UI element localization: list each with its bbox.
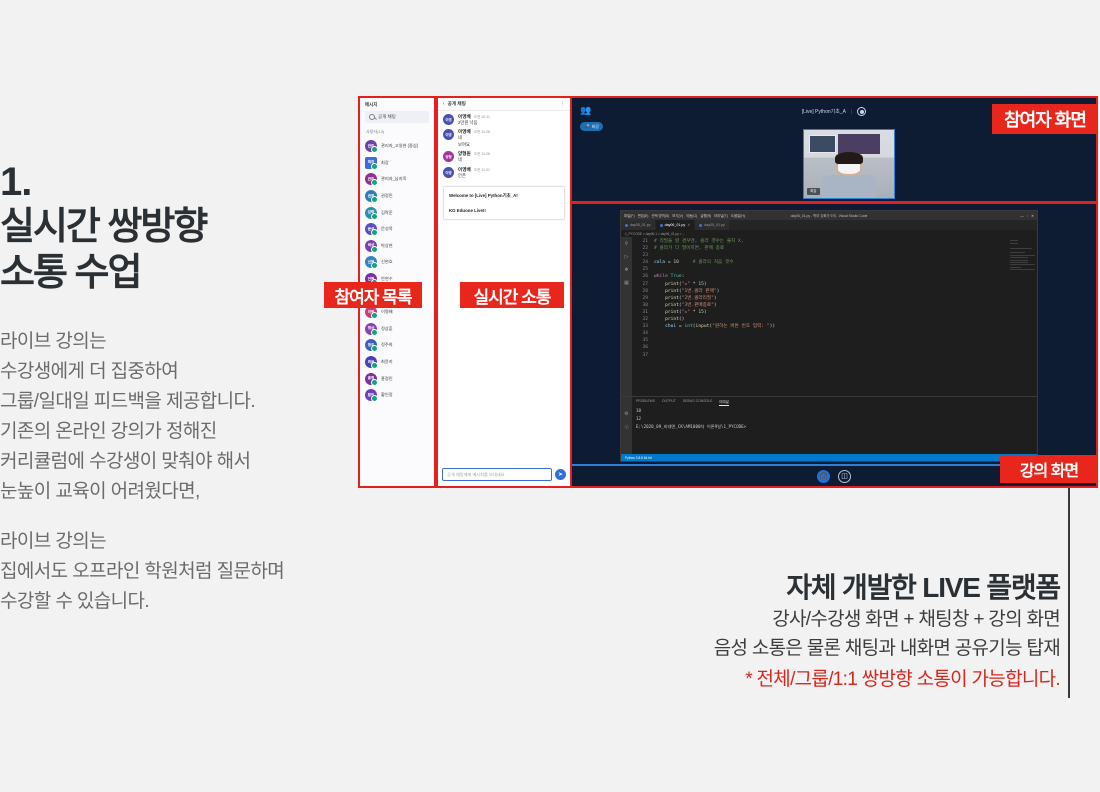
search-icon[interactable]: ⚲ xyxy=(625,241,629,247)
participant-row[interactable]: 최윤최윤지 xyxy=(360,354,434,371)
code-token: print xyxy=(654,310,679,315)
platform-line-1: 강사/수강생 화면 + 채팅창 + 강의 화면 xyxy=(440,606,1060,635)
code-text: print("1번.콜라 판매") xyxy=(654,288,719,295)
run-icon[interactable]: ▷ xyxy=(625,254,629,260)
vscode-titlebar: 파일(F)편집(E)선택 영역(S)보기(V)이동(G)실행(R)터미널(T)도… xyxy=(621,211,1037,220)
minimap-line xyxy=(1010,262,1028,263)
window-buttons[interactable]: — ▫ ✕ xyxy=(1020,214,1034,218)
line-number: 26 xyxy=(632,273,654,280)
session-title: [Live] Python기초_A xyxy=(802,108,846,115)
chat-message-list: 이영이영배오전 10:112만원 낙음이영이영배오전 11:26네보여요양형양형… xyxy=(438,111,570,179)
welcome-line-2: KG Eduone Live!! xyxy=(449,208,559,213)
user-count-label: 사용자(13) xyxy=(360,127,434,138)
code-line: 34 xyxy=(632,330,1037,337)
participant-name: 홍정민 xyxy=(381,376,393,382)
participant-row[interactable]: 신현신현호 xyxy=(360,254,434,271)
close-icon[interactable]: ✕ xyxy=(1031,214,1034,218)
avatar: 이영 xyxy=(443,167,454,178)
participant-row[interactable]: 황인황인정 xyxy=(360,387,434,404)
para2-line-2: 집에서도 오프라인 학원처럼 질문하며 xyxy=(0,557,360,587)
chevron-left-icon[interactable]: ‹ xyxy=(443,101,445,107)
editor-tab[interactable]: day05_01.py xyxy=(621,220,656,230)
chat-header: ‹ 공개 채팅 ⋮ xyxy=(438,98,570,111)
line-number: 31 xyxy=(632,309,654,316)
tag-live-chat: 실시간 소통 xyxy=(460,282,564,308)
participant-name: 문성욱 xyxy=(381,226,393,232)
maximize-icon[interactable]: ▫ xyxy=(1027,214,1028,218)
code-token: "원하는 버튼 번호 입력: " xyxy=(712,324,769,329)
avatar: 김락 xyxy=(365,207,377,219)
code-line: 31 print("=" * 15) xyxy=(632,309,1037,316)
participant-row[interactable]: 관리관리자_고일현 (중심) xyxy=(360,138,434,155)
participant-row[interactable]: 김락김락준 xyxy=(360,204,434,221)
tag-participant-screen: 참여자 화면 xyxy=(992,104,1098,134)
video-monitor-1 xyxy=(809,135,836,153)
code-line: 32 print() xyxy=(632,316,1037,323)
participant-row[interactable]: 홍정홍정민 xyxy=(360,370,434,387)
video-person-mask xyxy=(838,164,860,174)
participant-row[interactable]: 최강최강 xyxy=(360,155,434,172)
avatar: 최윤 xyxy=(365,356,377,368)
chat-message-text: 보여요 xyxy=(458,142,490,148)
chat-message-text: 2만원 낙음 xyxy=(458,120,490,126)
chat-message-header: 양형원오전 11:26 xyxy=(458,151,490,157)
video-monitor-2 xyxy=(838,134,879,154)
chat-input[interactable]: 공개 채팅에게 메시지를 보내세요 xyxy=(442,468,552,481)
para1-line-6: 눈높이 교육이 어려웠다면, xyxy=(0,477,360,507)
avatar: 황인 xyxy=(365,389,377,401)
participant-name: 권정민 xyxy=(381,193,393,199)
code-token: while xyxy=(654,274,671,279)
avatar: 이영 xyxy=(443,114,454,125)
send-icon[interactable]: ➤ xyxy=(555,469,566,480)
tag-lecture-screen: 강의 화면 xyxy=(1000,455,1098,483)
welcome-card: Welcome to [Live] Python기초_A! KG Eduone … xyxy=(443,186,565,220)
line-number: 33 xyxy=(632,323,654,330)
minimap-line xyxy=(1010,240,1018,241)
avatar: 정주 xyxy=(365,339,377,351)
code-line: 24cola = 10 # 콜라의 처음 갯수 xyxy=(632,259,1037,266)
minimap-line xyxy=(1010,252,1025,253)
editor-tab-label: day05_01.py xyxy=(704,223,725,227)
code-token: print xyxy=(654,317,679,322)
status-left: Python 3.8.5 64-bit xyxy=(625,456,652,460)
code-token: # 리필을 할 경우엔, 콜라 갯수는 줄지 X, xyxy=(654,239,744,244)
participant-row[interactable]: 권정권정민 xyxy=(360,188,434,205)
bottom-right-copy: 자체 개발한 LIVE 플랫폼 강사/수강생 화면 + 채팅창 + 강의 화면 … xyxy=(440,566,1060,695)
code-text: print("=" * 15) xyxy=(654,281,707,288)
code-text: # 콜라가 다 떨어지면, 판매 종료 xyxy=(654,245,724,252)
code-token: print xyxy=(654,296,679,301)
code-text: print() xyxy=(654,316,684,323)
code-line: 36 xyxy=(632,344,1037,351)
code-line: 27 print("=" * 15) xyxy=(632,281,1037,288)
lecture-screen-panel: 파일(F)편집(E)선택 영역(S)보기(V)이동(G)실행(R)터미널(T)도… xyxy=(570,201,1098,488)
code-token: int xyxy=(684,324,692,329)
line-number: 37 xyxy=(632,352,654,359)
code-token: "=" xyxy=(682,310,693,315)
code-token: print xyxy=(654,282,679,287)
video-lecture-column: 👥 🎤 최강 [Live] Python기초_A | xyxy=(570,96,1098,488)
code-token: cola xyxy=(654,260,668,265)
line-number: 36 xyxy=(632,344,654,351)
code-token: choi xyxy=(654,324,679,329)
chat-message-body: 양형원오전 11:26네 xyxy=(458,151,490,163)
code-token: ) xyxy=(704,282,707,287)
code-line: 23 xyxy=(632,252,1037,259)
code-token: print xyxy=(654,303,679,308)
terminal-body: PROBLEMSOUTPUTDEBUG CONSOLE터미널 1012 E:\2… xyxy=(632,397,1037,454)
code-token: # 콜라의 처음 갯수 xyxy=(693,260,734,265)
code-line: 37 xyxy=(632,352,1037,359)
participant-row[interactable]: 관리관리자_남지욱 xyxy=(360,171,434,188)
public-chat-label: 공개 채팅 xyxy=(378,114,396,120)
chat-message-body: 이영배오전 11:26네보여요 xyxy=(458,129,490,148)
panel-tab[interactable]: DEBUG CONSOLE xyxy=(683,399,713,406)
line-number: 35 xyxy=(632,337,654,344)
body-copy: 라이브 강의는 수강생에게 더 집중하여 그룹/일대일 피드백을 제공합니다. … xyxy=(0,327,360,617)
headline-line-1: 실시간 쌍방향 xyxy=(0,204,360,250)
code-line: 33 choi = int(input("원하는 버튼 번호 입력: ")) xyxy=(632,323,1037,330)
code-token: () xyxy=(679,317,685,322)
avatar: 정상 xyxy=(365,323,377,335)
line-number: 28 xyxy=(632,288,654,295)
account-icon[interactable]: ☉ xyxy=(624,425,628,431)
participant-name: 이명배 xyxy=(381,309,393,315)
paragraph-gap xyxy=(0,507,360,527)
code-token: True xyxy=(671,274,682,279)
code-line: 25 xyxy=(632,266,1037,273)
code-token xyxy=(679,260,693,265)
code-token: # 콜라가 다 떨어지면, 판매 종료 xyxy=(654,246,724,251)
line-number: 22 xyxy=(632,245,654,252)
platform-line-2: 음성 소통은 물론 채팅과 내화면 공유기능 탑재 xyxy=(440,635,1060,664)
line-number: 30 xyxy=(632,302,654,309)
chat-timestamp: 오전 11:26 xyxy=(474,152,490,157)
terminal-output: 1012 xyxy=(636,408,1033,422)
chat-message: 이영이영배오전 10:112만원 낙음 xyxy=(438,111,570,126)
code-token: "=" xyxy=(682,282,693,287)
close-icon[interactable]: ✕ xyxy=(687,223,690,227)
panel-activity-bar: ⚙ ☉ xyxy=(621,397,632,454)
code-line: 21# 리필을 할 경우엔, 콜라 갯수는 줄지 X, xyxy=(632,238,1037,245)
activity-bar: ⚲ ▷ ❖ ▦ xyxy=(621,237,632,396)
minimap-line xyxy=(1010,264,1035,265)
avatar: 신현 xyxy=(365,256,377,268)
participant-row[interactable]: 정주정주희 xyxy=(360,337,434,354)
minimap-line xyxy=(1010,243,1018,244)
section-number: 1. xyxy=(0,162,360,202)
editor-breadcrumb: 1_PYCODE > day06.1 > day06_01.py > ... xyxy=(621,230,1037,237)
participant-name: 정상훈 xyxy=(381,326,393,332)
para1-line-1: 라이브 강의는 xyxy=(0,327,360,357)
code-text: print("2번.콜라리필") xyxy=(654,295,717,302)
extensions-icon[interactable]: ▦ xyxy=(624,280,629,286)
source-control-icon[interactable]: ❖ xyxy=(624,267,628,273)
avatar: 홍정 xyxy=(365,373,377,385)
participant-row[interactable]: 문성문성욱 xyxy=(360,221,434,238)
terminal-line: 12 xyxy=(636,416,1033,422)
terminal-line: 10 xyxy=(636,408,1033,414)
avatar: 관리 xyxy=(365,140,377,152)
chat-title: 공개 채팅 xyxy=(448,101,466,107)
python-file-icon xyxy=(625,224,628,227)
participant-name: 최강 xyxy=(381,160,389,166)
platform-note: * 전체/그룹/1:1 쌍방향 소통이 가능합니다. xyxy=(440,666,1060,695)
panel-tab[interactable]: 터미널 xyxy=(719,399,728,406)
search-icon xyxy=(369,114,375,120)
participant-name: 황인정 xyxy=(381,392,393,398)
avatar: 권정 xyxy=(365,190,377,202)
public-chat-search[interactable]: 공개 채팅 xyxy=(365,111,429,123)
participant-name: 정주희 xyxy=(381,342,393,348)
participant-name: 김락준 xyxy=(381,210,393,216)
chat-message: 이영이영배오전 11:31안폰 xyxy=(438,164,570,179)
code-token: ) xyxy=(714,296,717,301)
line-number: 23 xyxy=(632,252,654,259)
screen-share-icon[interactable]: ◫ xyxy=(838,470,851,483)
editor-tab[interactable]: day06_01.py✕ xyxy=(656,220,696,230)
participant-name: 관리자_고일현 (중심) xyxy=(381,143,418,149)
avatar: 이영 xyxy=(443,129,454,140)
para1-line-4: 기존의 온라인 강의가 정해진 xyxy=(0,417,360,447)
python-file-icon xyxy=(660,224,663,227)
line-number: 21 xyxy=(632,238,654,245)
title-divider: | xyxy=(851,109,852,115)
editor-tab-bar: day05_01.pyday06_01.py✕day05_01.py xyxy=(621,220,1037,230)
para2-line-3: 수강할 수 있습니다. xyxy=(0,587,360,617)
chat-message-text: 네 xyxy=(458,157,490,163)
vscode-status-bar: Python 3.8.5 64-bit 줄 33, 열 5 xyxy=(621,454,1037,461)
vertical-divider xyxy=(1068,488,1070,698)
line-number: 27 xyxy=(632,281,654,288)
participant-row[interactable]: 박상박상현 xyxy=(360,238,434,255)
code-line: 29 print("2번.콜라리필") xyxy=(632,295,1037,302)
para1-line-2: 수강생에게 더 집중하여 xyxy=(0,357,360,387)
chat-message-header: 이영배오전 11:31 xyxy=(458,167,490,173)
line-number: 25 xyxy=(632,266,654,273)
line-number: 32 xyxy=(632,316,654,323)
chat-message-body: 이영배오전 10:112만원 낙음 xyxy=(458,114,490,126)
para1-line-3: 그룹/일대일 피드백을 제공합니다. xyxy=(0,387,360,417)
code-line: 28 print("1번.콜라 판매") xyxy=(632,288,1037,295)
code-token: "3번.판매종료" xyxy=(682,303,714,308)
mic-icon: 🎤 xyxy=(584,124,590,130)
line-number: 29 xyxy=(632,295,654,302)
code-token: ) xyxy=(704,310,707,315)
minimap-line xyxy=(1010,269,1035,270)
editor-tab-label: day06_01.py xyxy=(665,223,686,227)
avatar: 이명 xyxy=(365,306,377,318)
welcome-line-1: Welcome to [Live] Python기초_A! xyxy=(449,193,559,199)
code-token: )) xyxy=(770,324,776,329)
code-token: print xyxy=(654,289,679,294)
code-token: "1번.콜라 판매" xyxy=(682,289,717,294)
code-line: 26while True: xyxy=(632,273,1037,280)
participant-name: 박상현 xyxy=(381,243,393,249)
avatar: 문성 xyxy=(365,223,377,235)
page-root: 1. 실시간 쌍방향 소통 수업 라이브 강의는 수강생에게 더 집중하여 그룹… xyxy=(0,0,1100,792)
headphone-icon[interactable]: 🎧 xyxy=(817,470,830,483)
vscode-window: 파일(F)편집(E)선택 영역(S)보기(V)이동(G)실행(R)터미널(T)도… xyxy=(620,210,1038,462)
minimap-line xyxy=(1010,267,1021,268)
chat-message-body: 이영배오전 11:31안폰 xyxy=(458,167,490,179)
video-person-body xyxy=(822,175,876,199)
python-file-icon xyxy=(699,224,702,227)
code-token: input xyxy=(696,324,710,329)
more-vertical-icon[interactable]: ⋮ xyxy=(560,102,565,106)
code-text: choi = int(input("원하는 버튼 번호 입력: ")) xyxy=(654,323,775,330)
record-icon[interactable] xyxy=(857,107,866,116)
avatar: 박상 xyxy=(365,240,377,252)
participant-name: 최윤지 xyxy=(381,359,393,365)
vscode-window-title: day06_01.py - 학부 강화가 9개 - Visual Studio … xyxy=(621,213,1037,218)
self-participant-name: 최강 xyxy=(592,124,599,130)
video-tile-name: 최강 xyxy=(807,188,820,195)
minimap[interactable] xyxy=(1010,239,1036,394)
chat-message: 양형양형원오전 11:26네 xyxy=(438,148,570,163)
code-text: while True: xyxy=(654,273,684,280)
avatar: 양형 xyxy=(443,151,454,162)
code-line: 22# 콜라가 다 떨어지면, 판매 종료 xyxy=(632,245,1037,252)
code-token: "2번.콜라리필" xyxy=(682,296,714,301)
editor-tab-label: day05_01.py xyxy=(630,223,651,227)
terminal-tab-bar: PROBLEMSOUTPUTDEBUG CONSOLE터미널 xyxy=(636,399,1033,406)
chat-input-placeholder: 공개 채팅에게 메시지를 보내세요 xyxy=(447,472,504,478)
para2-line-1: 라이브 강의는 xyxy=(0,527,360,557)
panel-tab[interactable]: PROBLEMS xyxy=(636,399,655,406)
tag-participant-list: 참여자 목록 xyxy=(324,282,422,308)
participant-name: 관리자_남지욱 xyxy=(381,176,406,182)
messages-section-label: 메시지 xyxy=(360,98,434,110)
chat-message-header: 이영배오전 11:26 xyxy=(458,129,490,135)
code-line: 35 xyxy=(632,337,1037,344)
video-person-hair xyxy=(835,152,864,164)
chat-message: 이영이영배오전 11:26네보여요 xyxy=(438,126,570,148)
avatar: 최강 xyxy=(365,157,377,169)
code-text: cola = 10 # 콜라의 처음 갯수 xyxy=(654,259,733,266)
left-copy-block: 1. 실시간 쌍방향 소통 수업 라이브 강의는 수강생에게 더 집중하여 그룹… xyxy=(0,162,360,617)
terminal-panel: ⚙ ☉ PROBLEMSOUTPUTDEBUG CONSOLE터미널 1012 … xyxy=(621,396,1037,454)
chat-sender-name: 이영배 xyxy=(458,167,471,173)
code-token: ) xyxy=(717,289,720,294)
participant-rows: 관리관리자_고일현 (중심)최강최강관리관리자_남지욱권정권정민김락김락준문성문… xyxy=(360,138,434,404)
code-text: # 리필을 할 경우엔, 콜라 갯수는 줄지 X, xyxy=(654,238,744,245)
para1-line-5: 커리큘럼에 수강생이 맞춰야 해서 xyxy=(0,447,360,477)
chat-timestamp: 오전 11:31 xyxy=(474,168,490,173)
editor-tab[interactable]: day05_01.py xyxy=(695,220,730,230)
minimap-line xyxy=(1010,257,1028,258)
terminal-prompt[interactable]: E:\2020_09_비대면_CK\AM1000차 이론9일\1_PYCODE> xyxy=(636,424,1033,430)
chat-input-row: 공개 채팅에게 메시지를 보내세요 ➤ xyxy=(442,468,566,481)
code-token: ) xyxy=(714,303,717,308)
participant-name: 신현호 xyxy=(381,259,393,265)
code-text: print("3번.판매종료") xyxy=(654,302,717,309)
editor-main: ⚲ ▷ ❖ ▦ 21# 리필을 할 경우엔, 콜라 갯수는 줄지 X,22# 콜… xyxy=(621,237,1037,396)
chat-timestamp: 오전 11:26 xyxy=(474,130,490,135)
code-text: print("=" * 15) xyxy=(654,309,707,316)
code-editor[interactable]: 21# 리필을 할 경우엔, 콜라 갯수는 줄지 X,22# 콜라가 다 떨어지… xyxy=(632,237,1037,396)
panel-tab[interactable]: OUTPUT xyxy=(662,399,676,406)
code-line: 30 print("3번.판매종료") xyxy=(632,302,1037,309)
participant-video-tile[interactable]: 최강 xyxy=(803,129,895,199)
platform-title: 자체 개발한 LIVE 플랫폼 xyxy=(440,566,1060,606)
headline-line-2: 소통 수업 xyxy=(0,250,360,296)
self-participant-badge: 🎤 최강 xyxy=(580,122,603,131)
avatar: 관리 xyxy=(365,173,377,185)
minimap-line xyxy=(1010,248,1032,249)
chat-message-text: 안폰 xyxy=(458,173,490,179)
minimap-line xyxy=(1010,255,1035,256)
participant-row[interactable]: 정상정상훈 xyxy=(360,321,434,338)
line-number: 24 xyxy=(632,259,654,266)
minimap-line xyxy=(1010,260,1028,261)
settings-gear-icon[interactable]: ⚙ xyxy=(624,411,628,417)
line-number: 34 xyxy=(632,330,654,337)
code-token: : xyxy=(682,274,685,279)
minimize-icon[interactable]: — xyxy=(1020,214,1024,218)
